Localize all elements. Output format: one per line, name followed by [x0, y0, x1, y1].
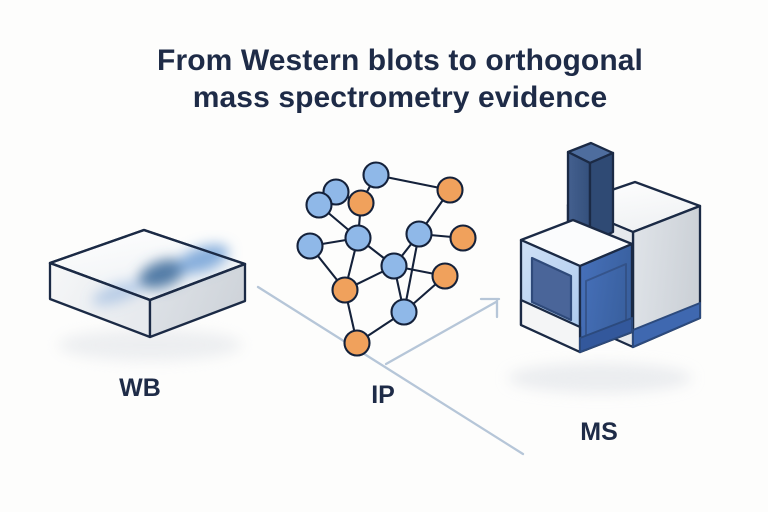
network-node-orange — [349, 191, 374, 216]
network-node-blue — [382, 254, 407, 279]
stage-label-ms: MS — [580, 418, 618, 446]
network-node-blue — [298, 234, 323, 259]
western-blot-illustration: WB — [50, 230, 245, 402]
network-node-orange — [345, 331, 370, 356]
network-node-orange — [433, 264, 458, 289]
network-node-orange — [333, 278, 358, 303]
network-nodes — [298, 163, 476, 356]
ip-network-illustration: IP — [298, 163, 476, 410]
illustration-svg: From Western blots to orthogonal mass sp… — [0, 0, 768, 512]
mass-spectrometer-illustration: MS — [508, 143, 700, 446]
stage-label-ip: IP — [371, 381, 395, 409]
figure-canvas: From Western blots to orthogonal mass sp… — [0, 0, 768, 512]
network-node-orange — [438, 178, 463, 203]
title-line-2: mass spectrometry evidence — [193, 81, 608, 114]
network-node-blue — [407, 222, 432, 247]
network-node-blue — [307, 193, 332, 218]
network-node-orange — [451, 226, 476, 251]
network-node-blue — [346, 226, 371, 251]
title-line-1: From Western blots to orthogonal — [157, 44, 643, 77]
network-node-blue — [392, 300, 417, 325]
network-node-blue — [364, 163, 389, 188]
page-title: From Western blots to orthogonal mass sp… — [157, 44, 643, 114]
ms-shadow — [508, 363, 692, 393]
stage-label-wb: WB — [119, 374, 161, 402]
